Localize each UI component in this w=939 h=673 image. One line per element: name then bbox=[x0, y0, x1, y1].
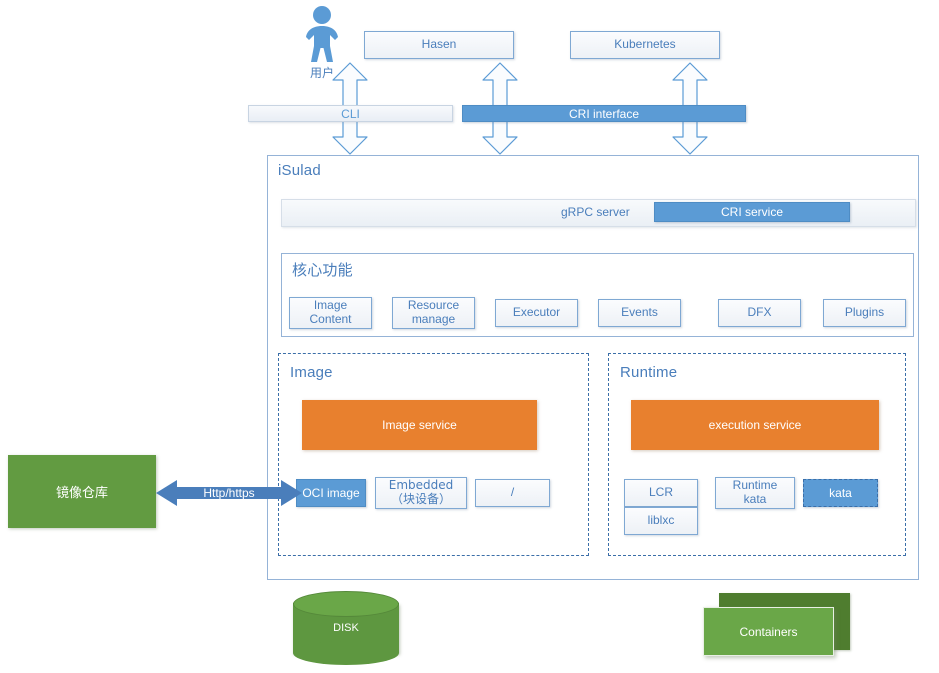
image-backend-embedded[interactable]: Embedded （块设备） bbox=[375, 477, 467, 509]
execution-service-box[interactable]: execution service bbox=[631, 400, 879, 450]
diagram-canvas: 用户 Hasen Kubernetes CLI CRI interface iS… bbox=[0, 0, 939, 673]
core-module-line: Resource bbox=[408, 299, 459, 313]
isulad-title: iSulad bbox=[278, 162, 321, 179]
containers-box[interactable]: Containers bbox=[703, 607, 834, 656]
runtime-backend-line: kata bbox=[744, 493, 767, 507]
http-https-arrow: Http/https bbox=[155, 476, 303, 510]
image-backend-line: Embedded bbox=[389, 479, 454, 493]
disk-label: DISK bbox=[293, 622, 399, 634]
image-backend-slash[interactable]: / bbox=[475, 479, 550, 507]
user-person-icon bbox=[298, 4, 346, 64]
core-module-line: manage bbox=[412, 313, 455, 327]
image-registry-box[interactable]: 镜像仓库 bbox=[8, 455, 156, 528]
image-panel-title: Image bbox=[290, 364, 333, 381]
runtime-backend-runtime-plugins[interactable]: Runtime kata bbox=[715, 477, 795, 509]
image-panel bbox=[278, 353, 589, 556]
disk-top-ellipse bbox=[293, 591, 399, 617]
hasen-box[interactable]: Hasen bbox=[364, 31, 514, 59]
core-module-plugins[interactable]: Plugins bbox=[823, 299, 906, 327]
disk-cylinder: DISK bbox=[293, 591, 399, 665]
cli-bar[interactable]: CLI bbox=[248, 105, 453, 122]
core-module-executor[interactable]: Executor bbox=[495, 299, 578, 327]
core-module-resource-manage[interactable]: Resource manage bbox=[392, 297, 475, 329]
image-service-box[interactable]: Image service bbox=[302, 400, 537, 450]
core-module-line: Image bbox=[314, 299, 347, 313]
core-functions-title: 核心功能 bbox=[292, 259, 353, 280]
runtime-backend-liblxc[interactable]: liblxc bbox=[624, 507, 698, 535]
cri-service-box[interactable]: CRI service bbox=[654, 202, 850, 222]
runtime-backend-line: Runtime bbox=[733, 479, 778, 493]
runtime-backend-kata[interactable]: kata bbox=[803, 479, 878, 507]
image-backend-line: （块设备） bbox=[391, 493, 451, 507]
runtime-panel-title: Runtime bbox=[620, 364, 677, 381]
image-backend-oci-image[interactable]: OCI image bbox=[296, 479, 366, 507]
core-module-line: Content bbox=[309, 313, 351, 327]
core-module-image-content[interactable]: Image Content bbox=[289, 297, 372, 329]
runtime-backend-lcr[interactable]: LCR bbox=[624, 479, 698, 507]
core-module-events[interactable]: Events bbox=[598, 299, 681, 327]
http-https-label: Http/https bbox=[155, 486, 303, 500]
kubernetes-box[interactable]: Kubernetes bbox=[570, 31, 720, 59]
disk-bottom-ellipse bbox=[293, 641, 399, 665]
grpc-server-label: gRPC server bbox=[561, 205, 630, 219]
cri-interface-bar[interactable]: CRI interface bbox=[462, 105, 746, 122]
core-module-dfx[interactable]: DFX bbox=[718, 299, 801, 327]
